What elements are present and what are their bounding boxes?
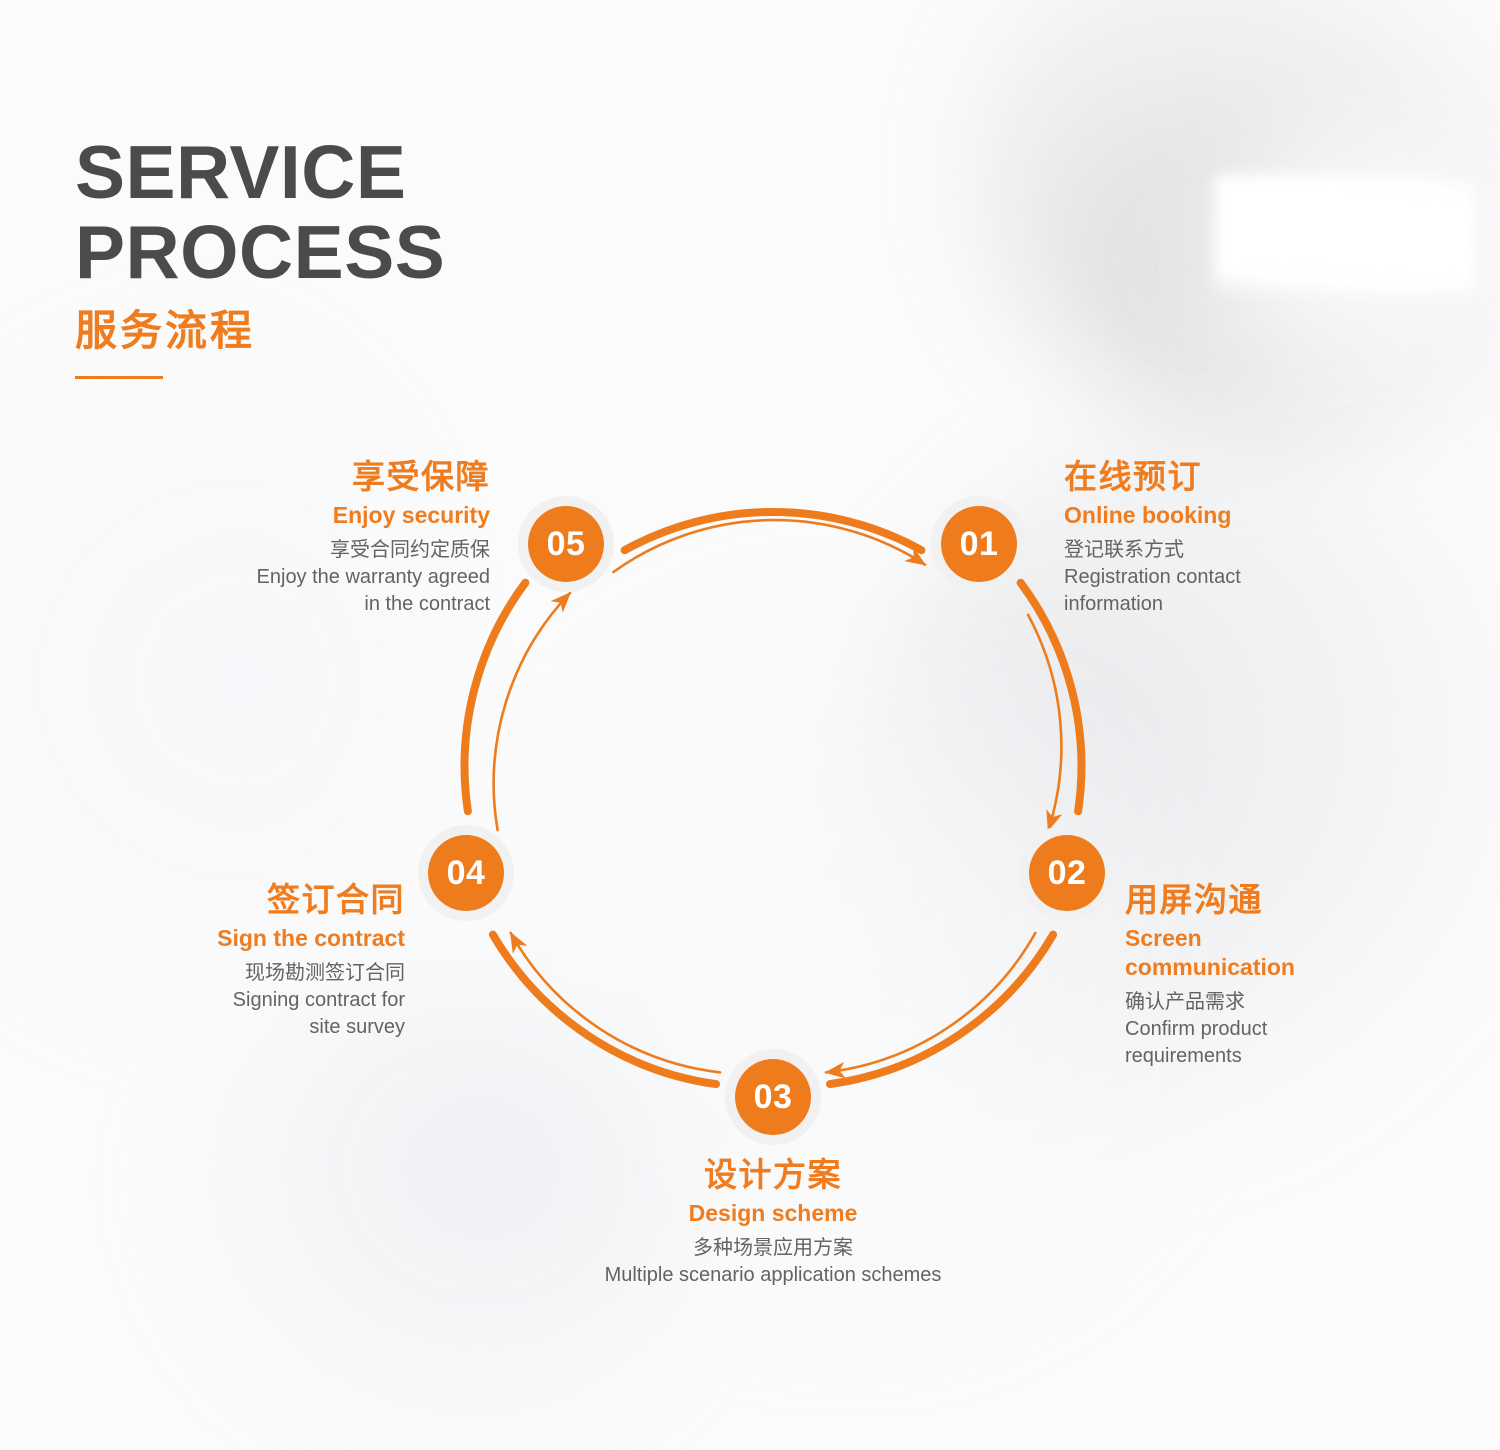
arrow-04-to-05: [494, 593, 570, 830]
step-02-title-en-line1: Screen: [1125, 924, 1455, 953]
step-04-title-en: Sign the contract: [80, 924, 405, 953]
cycle-outer-arcs: [465, 512, 1082, 1084]
page-header: SERVICE PROCESS 服务流程: [75, 132, 445, 379]
step-04-desc-en-line1: Signing contract for: [80, 987, 405, 1014]
step-02-desc-cn: 确认产品需求: [1125, 988, 1455, 1016]
step-05-desc-en-line1: Enjoy the warranty agreed: [155, 564, 490, 591]
step-04-desc-en-line2: site survey: [80, 1014, 405, 1041]
step-text-05: 享受保障 Enjoy security 享受合同约定质保 Enjoy the w…: [155, 457, 490, 618]
cycle-node-05-number: 05: [528, 506, 604, 582]
cycle-node-01[interactable]: 01: [931, 496, 1027, 592]
outer-arc-05-to-01: [625, 512, 922, 550]
page-title-line2: PROCESS: [75, 212, 445, 292]
page-title-line1: SERVICE: [75, 132, 445, 212]
step-text-03: 设计方案 Design scheme 多种场景应用方案 Multiple sce…: [473, 1155, 1073, 1289]
step-02-title-en-line2: communication: [1125, 953, 1455, 982]
step-01-desc-en-line1: Registration contact: [1064, 564, 1394, 591]
step-01-desc-cn: 登记联系方式: [1064, 536, 1394, 564]
cycle-node-05[interactable]: 05: [518, 496, 614, 592]
step-text-04: 签订合同 Sign the contract 现场勘测签订合同 Signing …: [80, 880, 405, 1041]
cycle-node-02-number: 02: [1029, 835, 1105, 911]
step-05-title-cn: 享受保障: [155, 457, 490, 497]
header-underline-rule: [75, 376, 163, 379]
cycle-node-01-number: 01: [941, 506, 1017, 582]
cycle-node-03-number: 03: [735, 1059, 811, 1135]
step-01-title-en: Online booking: [1064, 501, 1394, 530]
step-02-desc-en-line2: requirements: [1125, 1043, 1455, 1070]
cycle-node-02[interactable]: 02: [1019, 825, 1115, 921]
step-03-title-cn: 设计方案: [473, 1155, 1073, 1195]
step-05-desc-en-line2: in the contract: [155, 591, 490, 618]
cycle-node-04[interactable]: 04: [418, 825, 514, 921]
step-text-01: 在线预订 Online booking 登记联系方式 Registration …: [1064, 457, 1394, 618]
step-02-title-cn: 用屏沟通: [1125, 880, 1455, 920]
step-03-desc-en-line1: Multiple scenario application schemes: [473, 1262, 1073, 1289]
step-01-title-cn: 在线预订: [1064, 457, 1394, 497]
cycle-node-04-number: 04: [428, 835, 504, 911]
step-05-title-en: Enjoy security: [155, 501, 490, 530]
cycle-node-03[interactable]: 03: [725, 1049, 821, 1145]
cycle-inner-arrows: [494, 520, 1062, 1072]
step-04-title-cn: 签订合同: [80, 880, 405, 920]
step-01-desc-en-line2: information: [1064, 591, 1394, 618]
step-04-desc-cn: 现场勘测签订合同: [80, 959, 405, 987]
step-text-02: 用屏沟通 Screen communication 确认产品需求 Confirm…: [1125, 880, 1455, 1070]
step-02-desc-en-line1: Confirm product: [1125, 1016, 1455, 1043]
page-subtitle: 服务流程: [75, 308, 445, 354]
step-05-desc-cn: 享受合同约定质保: [155, 536, 490, 564]
step-03-title-en: Design scheme: [473, 1199, 1073, 1228]
step-03-desc-cn: 多种场景应用方案: [473, 1234, 1073, 1262]
